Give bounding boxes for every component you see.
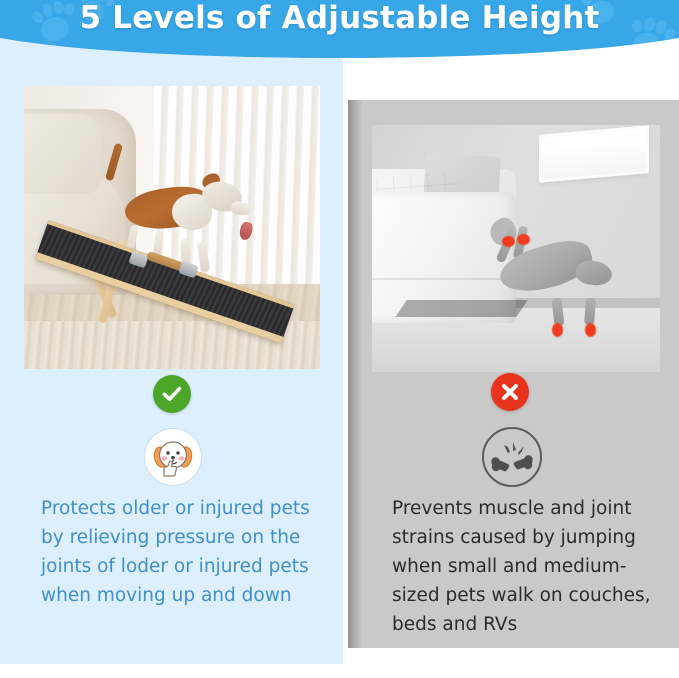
close-icon: [498, 380, 522, 404]
broken-bone-joint-icon: [482, 427, 542, 487]
right-caption: Prevents muscle and joint strains caused…: [392, 494, 654, 639]
checkmark-icon: [160, 382, 184, 406]
joint-highlight-icon: [517, 234, 530, 245]
photo-dog-on-ramp: [24, 86, 320, 369]
product-infographic: 5 Levels of Adjustable Height: [0, 0, 679, 678]
fractured-bone-glyph: [489, 434, 535, 480]
photo-dog-jumping: [372, 125, 660, 372]
page-title: 5 Levels of Adjustable Height: [0, 0, 679, 36]
sofa-cushion: [24, 114, 101, 193]
joint-strain-highlights: [372, 125, 660, 372]
check-badge: [153, 375, 191, 413]
dog-face-thumbs-up-icon: [144, 428, 202, 486]
header-banner: 5 Levels of Adjustable Height: [0, 0, 679, 58]
cross-badge: [491, 373, 529, 411]
left-caption: Protects older or injured pets by reliev…: [41, 494, 329, 610]
joint-highlight-icon: [502, 236, 515, 247]
pet-ramp: [42, 219, 302, 338]
joint-highlight-icon: [585, 323, 596, 337]
dog-face-glyph: [148, 432, 198, 482]
ramp-deck-nonslip-surface: [35, 220, 295, 343]
right-panel-edge-shading: [348, 100, 362, 648]
joint-highlight-icon: [552, 323, 563, 337]
